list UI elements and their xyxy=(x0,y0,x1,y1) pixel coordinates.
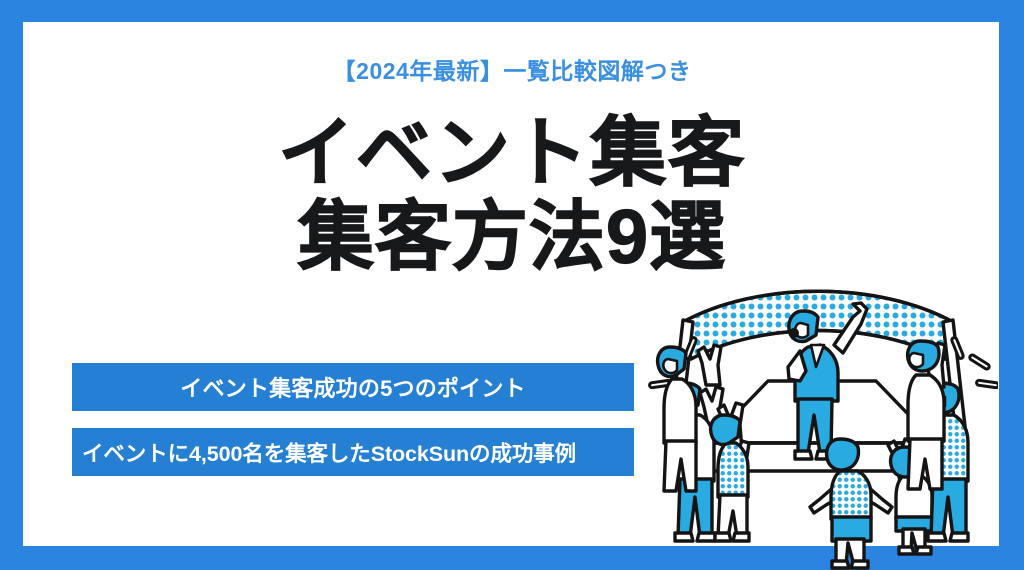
highlight-bar-2: イベントに4,500名を集客したStockSunの成功事例 xyxy=(72,428,634,476)
audience-adult-right-back xyxy=(908,341,945,489)
title-line-1: イベント集客 xyxy=(0,112,1024,196)
highlight-bar-group: イベント集客成功の5つのポイント イベントに4,500名を集客したStockSu… xyxy=(72,363,634,476)
page-title: イベント集客 集客方法9選 xyxy=(0,112,1024,280)
title-line-2: 集客方法9選 xyxy=(0,196,1024,280)
event-stage-crowd-illustration xyxy=(648,275,998,570)
highlight-bar-1: イベント集客成功の5つのポイント xyxy=(72,363,634,411)
thumbnail-canvas: 【2024年最新】一覧比較図解つき イベント集客 集客方法9選 イベント集客成功… xyxy=(0,0,1024,570)
subtitle-text: 【2024年最新】一覧比較図解つき xyxy=(0,52,1024,86)
